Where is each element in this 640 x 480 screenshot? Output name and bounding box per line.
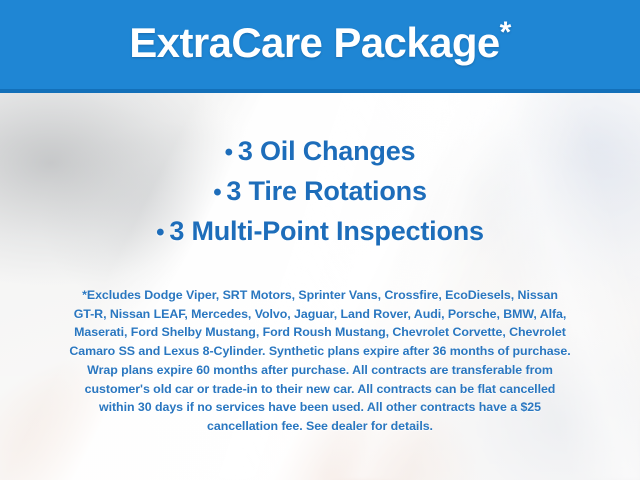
header-banner: ExtraCare Package* [0, 0, 640, 93]
page-title-asterisk: * [500, 16, 511, 49]
bullet-icon: • [156, 219, 169, 246]
disclaimer-line: Maserati, Ford Shelby Mustang, Ford Rous… [20, 323, 620, 342]
page-title-text: ExtraCare Package [129, 19, 499, 66]
benefit-item-oil-changes: •3 Oil Changes [0, 132, 640, 172]
benefits-list: •3 Oil Changes •3 Tire Rotations •3 Mult… [0, 132, 640, 252]
page-title: ExtraCare Package* [129, 22, 510, 67]
bullet-icon: • [213, 179, 226, 206]
benefit-item-tire-rotations: •3 Tire Rotations [0, 172, 640, 212]
disclaimer-fineprint: *Excludes Dodge Viper, SRT Motors, Sprin… [20, 286, 620, 436]
disclaimer-line: *Excludes Dodge Viper, SRT Motors, Sprin… [20, 286, 620, 305]
disclaimer-line: GT-R, Nissan LEAF, Mercedes, Volvo, Jagu… [20, 305, 620, 324]
disclaimer-line: Camaro SS and Lexus 8-Cylinder. Syntheti… [20, 342, 620, 361]
disclaimer-line: customer's old car or trade-in to their … [20, 380, 620, 399]
benefit-item-label: 3 Tire Rotations [226, 176, 426, 206]
disclaimer-line: within 30 days if no services have been … [20, 398, 620, 417]
benefit-item-multi-point-inspections: •3 Multi-Point Inspections [0, 212, 640, 252]
bullet-icon: • [225, 139, 238, 166]
disclaimer-line: Wrap plans expire 60 months after purcha… [20, 361, 620, 380]
extracare-promo-card: ExtraCare Package* •3 Oil Changes •3 Tir… [0, 0, 640, 480]
disclaimer-line: cancellation fee. See dealer for details… [20, 417, 620, 436]
benefit-item-label: 3 Oil Changes [238, 136, 415, 166]
benefit-item-label: 3 Multi-Point Inspections [169, 216, 484, 246]
